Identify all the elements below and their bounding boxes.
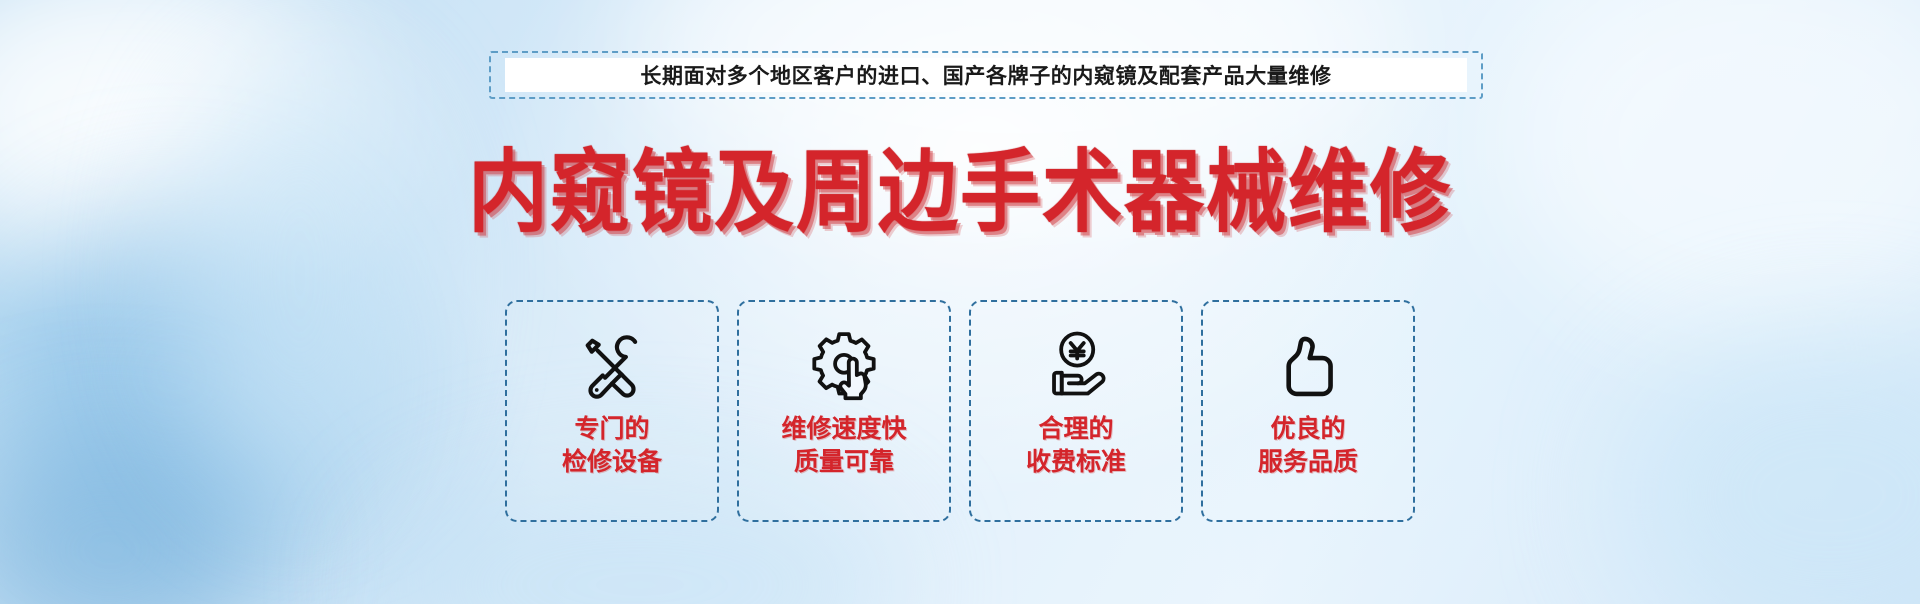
hand-yuan-coin-icon — [1038, 326, 1114, 404]
background-blob — [1620, 330, 1920, 604]
feature-card-label: 合理的 收费标准 — [1026, 412, 1126, 478]
gear-cursor-icon — [806, 326, 882, 404]
feature-card-label-line1: 维修速度快 — [781, 414, 906, 443]
background-blob — [10, 210, 340, 540]
feature-card-label-line1: 合理的 — [1038, 414, 1113, 443]
headline-wrapper: 内窥镜及周边手术器械维修 — [0, 120, 1920, 236]
subtitle-dashed-frame: 长期面对多个地区客户的进口、国产各牌子的内窥镜及配套产品大量维修 — [489, 51, 1483, 99]
feature-card-pricing[interactable]: 合理的 收费标准 — [969, 300, 1183, 522]
feature-card-speed[interactable]: 维修速度快 质量可靠 — [737, 300, 951, 522]
promo-banner: 长期面对多个地区客户的进口、国产各牌子的内窥镜及配套产品大量维修 内窥镜及周边手… — [0, 0, 1920, 604]
subtitle-text: 长期面对多个地区客户的进口、国产各牌子的内窥镜及配套产品大量维修 — [640, 60, 1331, 90]
feature-card-label-line2: 服务品质 — [1258, 445, 1358, 478]
feature-card-label-line1: 优良的 — [1270, 414, 1345, 443]
feature-card-label-line1: 专门的 — [574, 414, 649, 443]
subtitle-white-plate: 长期面对多个地区客户的进口、国产各牌子的内窥镜及配套产品大量维修 — [505, 58, 1467, 92]
background-blob — [0, 430, 260, 604]
feature-card-row: 专门的 检修设备 维修速度快 质量可靠 — [505, 300, 1415, 522]
feature-card-label-line2: 质量可靠 — [781, 445, 906, 478]
page-title: 内窥镜及周边手术器械维修 — [468, 120, 1452, 250]
feature-card-label-line2: 检修设备 — [562, 445, 662, 478]
screwdriver-wrench-icon — [575, 326, 649, 404]
feature-card-equipment[interactable]: 专门的 检修设备 — [505, 300, 719, 522]
thumbs-up-icon — [1271, 326, 1345, 404]
feature-card-label-line2: 收费标准 — [1026, 445, 1126, 478]
feature-card-label: 维修速度快 质量可靠 — [781, 412, 906, 478]
feature-card-label: 专门的 检修设备 — [562, 412, 662, 478]
feature-card-service[interactable]: 优良的 服务品质 — [1201, 300, 1415, 522]
feature-card-label: 优良的 服务品质 — [1258, 412, 1358, 478]
